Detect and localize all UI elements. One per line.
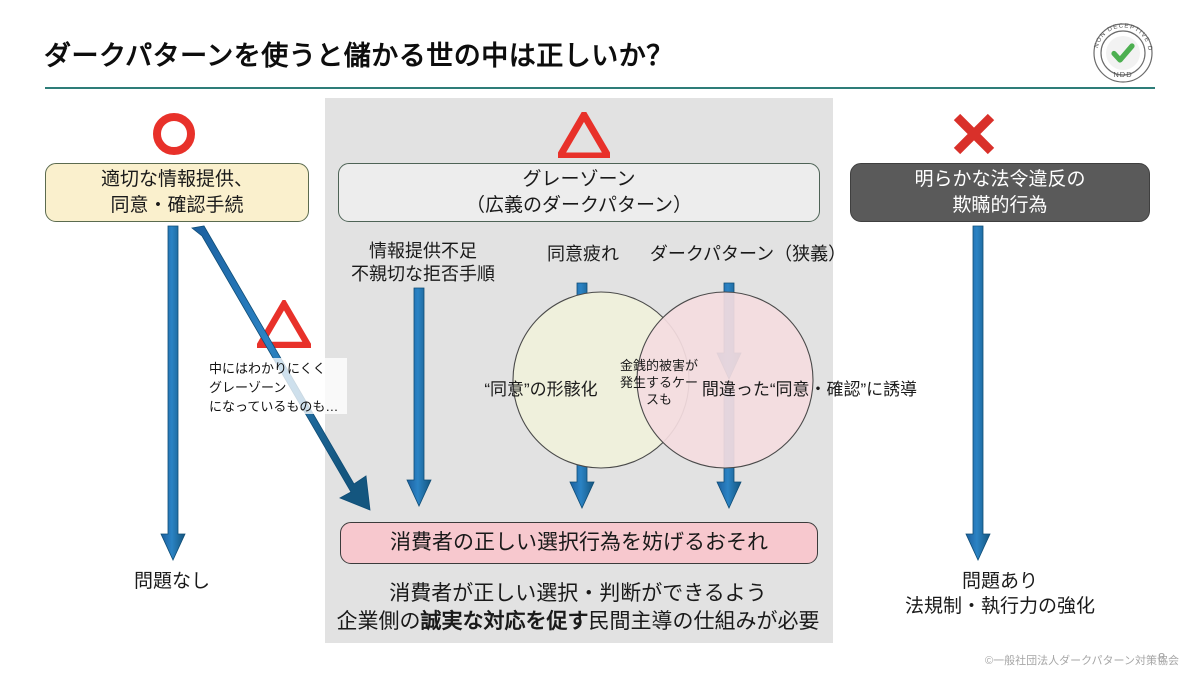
triangle-mark-icon	[558, 112, 610, 158]
right-outcome-line2: 法規制・執行力の強化	[880, 595, 1120, 620]
conclusion-line2: 企業側の誠実な対応を促す民間主導の仕組みが必要	[318, 608, 838, 636]
venn-overlap-label: 金銭的被害が発生するケースも	[618, 358, 700, 409]
left-outcome-label: 問題なし	[82, 570, 262, 595]
left-box-line1: 適切な情報提供、	[101, 167, 253, 193]
right-outcome-line1: 問題あり	[880, 570, 1120, 595]
category-1-line1: 情報提供不足	[328, 240, 518, 263]
category-label-2: 同意疲れ	[508, 243, 658, 266]
left-box-line2: 同意・確認手続	[110, 193, 243, 219]
conclusion-line1: 消費者が正しい選択・判断ができるよう	[318, 580, 838, 608]
category-1-line2: 不親切な拒否手順	[328, 263, 518, 286]
right-box-line1: 明らかな法令違反の	[914, 167, 1085, 193]
cross-mark-icon	[950, 110, 998, 158]
result-box: 消費者の正しい選択行為を妨げるおそれ	[340, 522, 818, 564]
slide-canvas: ダークパターンを使うと儲かる世の中は正しいか？ NON DECEPTIVE DE…	[0, 0, 1200, 675]
right-outcome-label: 問題あり 法規制・執行力の強化	[880, 570, 1120, 619]
footer-copyright: ©一般社団法人ダークパターン対策協会	[985, 652, 1179, 668]
arrow-left-vertical	[160, 226, 186, 566]
left-category-box: 適切な情報提供、 同意・確認手続	[45, 163, 309, 222]
arrow-center-1	[406, 288, 432, 510]
header-divider	[45, 87, 1155, 89]
callout-line2: グレーゾーン	[209, 379, 343, 398]
conclusion-line2-bold: 誠実な対応を促す	[421, 610, 589, 633]
arrow-right-vertical	[965, 226, 991, 566]
category-label-1: 情報提供不足 不親切な拒否手順	[328, 240, 518, 287]
result-box-label: 消費者の正しい選択行為を妨げるおそれ	[390, 529, 768, 557]
venn-left-label: “同意”の形骸化	[466, 379, 616, 401]
conclusion-line2-pre: 企業側の	[337, 610, 421, 633]
center-box-line1: グレーゾーン	[522, 167, 635, 193]
svg-text:NDD: NDD	[1113, 70, 1132, 79]
conclusion-line2-post: 民間主導の仕組みが必要	[589, 610, 820, 633]
callout-line3: になっているものも…	[209, 398, 343, 417]
category-label-3: ダークパターン（狭義）	[648, 243, 848, 266]
right-category-box: 明らかな法令違反の 欺瞞的行為	[850, 163, 1150, 222]
venn-right-label: 間違った“同意・確認”に誘導	[697, 379, 922, 401]
center-category-box: グレーゾーン （広義のダークパターン）	[338, 163, 820, 222]
conclusion-text: 消費者が正しい選択・判断ができるよう 企業側の誠実な対応を促す民間主導の仕組みが…	[318, 580, 838, 637]
callout-line1: 中にはわかりにくく	[209, 360, 343, 379]
page-title: ダークパターンを使うと儲かる世の中は正しいか？	[44, 34, 924, 73]
category-3-line1: ダークパターン（狭義）	[648, 243, 848, 266]
center-box-line2: （広義のダークパターン）	[466, 193, 692, 219]
ndd-logo-icon: NON DECEPTIVE DESIGN NDD	[1092, 22, 1154, 84]
right-box-line2: 欺瞞的行為	[952, 193, 1047, 219]
grayzone-callout: 中にはわかりにくく グレーゾーン になっているものも…	[205, 358, 347, 414]
category-2-line1: 同意疲れ	[508, 243, 658, 266]
page-number: 8	[1158, 650, 1165, 665]
circle-mark-icon	[150, 110, 198, 158]
